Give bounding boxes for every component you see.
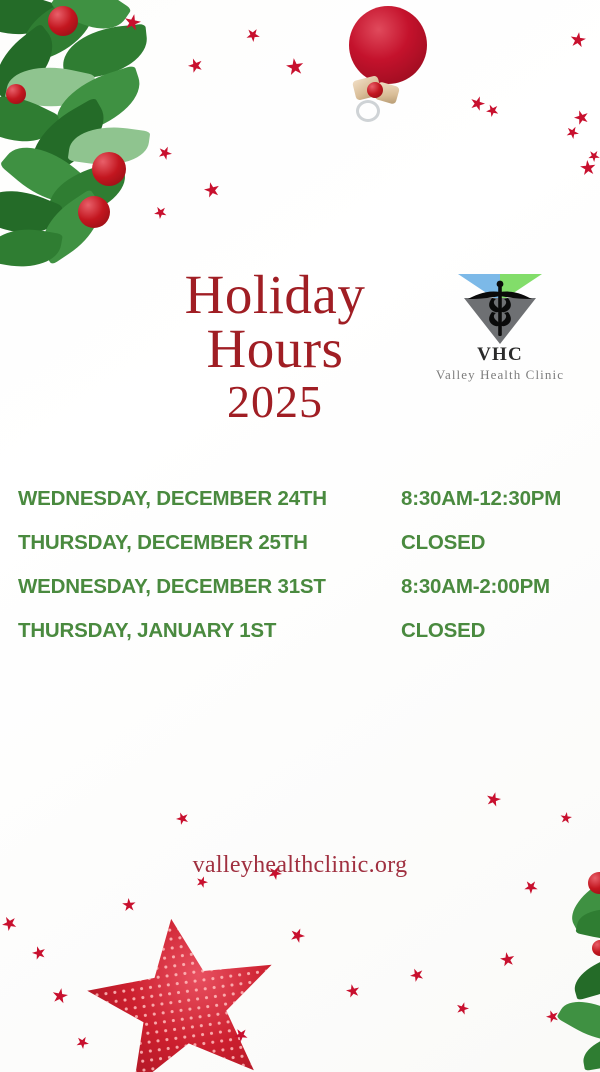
valley-health-clinic-caduceus-logo-icon: [450, 268, 550, 346]
content-layer: Holiday Hours 2025: [0, 0, 600, 1072]
logo-abbreviation: VHC: [424, 344, 576, 366]
hours-day: WEDNESDAY, DECEMBER 31ST: [18, 575, 401, 599]
hours-time: CLOSED: [401, 619, 485, 643]
hours-row: THURSDAY, JANUARY 1ST CLOSED: [18, 619, 593, 663]
page-title: Holiday Hours 2025: [150, 268, 400, 427]
hours-day: THURSDAY, DECEMBER 25TH: [18, 531, 401, 555]
hours-day: WEDNESDAY, DECEMBER 24TH: [18, 487, 401, 511]
clinic-logo: VHC Valley Health Clinic: [424, 268, 576, 383]
hours-time: 8:30AM-12:30PM: [401, 487, 561, 511]
hours-row: WEDNESDAY, DECEMBER 31ST 8:30AM-2:00PM: [18, 575, 593, 619]
holiday-hours-list: WEDNESDAY, DECEMBER 24TH 8:30AM-12:30PM …: [18, 487, 593, 663]
hours-day: THURSDAY, JANUARY 1ST: [18, 619, 401, 643]
holiday-hours-poster: Holiday Hours 2025: [0, 0, 600, 1072]
hours-time: CLOSED: [401, 531, 485, 555]
title-year: 2025: [150, 376, 400, 428]
hours-time: 8:30AM-2:00PM: [401, 575, 550, 599]
title-line-1: Holiday: [150, 268, 400, 322]
website-url[interactable]: valleyhealthclinic.org: [0, 852, 600, 879]
title-line-2: Hours: [150, 322, 400, 376]
logo-clinic-name: Valley Health Clinic: [424, 367, 576, 383]
hours-row: THURSDAY, DECEMBER 25TH CLOSED: [18, 531, 593, 575]
hours-row: WEDNESDAY, DECEMBER 24TH 8:30AM-12:30PM: [18, 487, 593, 531]
